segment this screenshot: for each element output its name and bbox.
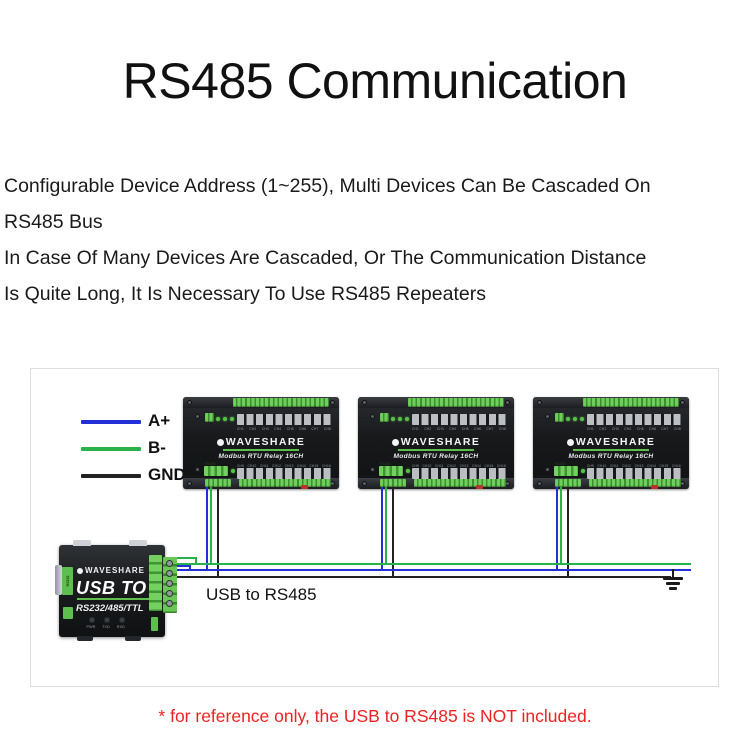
usb-to-rs485-converter[interactable]: RS232 WAVESHARE USB TO RS232/485/TTL PWR… [59,545,165,637]
status-led [223,417,227,421]
converter-subtitle: RS232/485/TTL [76,603,144,614]
channel-label: CH7 [312,426,319,432]
wire-b-minus-drop-board2 [385,487,387,565]
waveshare-mark-icon [392,439,399,446]
channel-label: CH7 [662,426,669,432]
status-led [573,417,577,421]
mount-hole [680,400,685,405]
mount-hole [505,400,510,405]
channel-label: CH2 [424,426,431,432]
channel-label: CH4 [274,426,281,432]
rs485-screw-terminal[interactable] [163,557,177,613]
rs232-port[interactable]: RS232 [62,567,73,595]
wiring-diagram: A+ B- GND CH1 CH2 CH3 CH4 [30,368,719,687]
channel-label: CH1 [587,426,594,432]
earth-ground-icon [659,569,687,591]
relay-row-bottom [237,468,331,479]
mount-hole [362,400,367,405]
wire-b-minus-drop-board1 [210,487,212,565]
channel-label: CH7 [487,426,494,432]
channel-labels-top: CH1 CH2 CH3 CH4 CH5 CH6 CH7 CH8 [412,426,506,432]
mode-switch[interactable] [151,617,158,631]
mount-tab [73,540,91,546]
board-brand-text: WAVESHARE [226,436,306,448]
input-terminal-strip-bottom[interactable] [239,479,331,487]
rs485-connector-label: RS485 [555,462,565,466]
power-terminal[interactable] [380,413,389,422]
terminal-screw[interactable] [166,590,173,597]
converter-caption: USB to RS485 [206,584,317,606]
rs485-connector-label: RS485 [380,462,390,466]
ground-bar [669,587,677,590]
relay-row-bottom [412,468,506,479]
channel-label: CH4 [449,426,456,432]
terminal-screw[interactable] [166,570,173,577]
terminal-screw[interactable] [166,580,173,587]
channel-label: CH4 [624,426,631,432]
logo-underline [223,449,299,451]
channel-label: CH2 [249,426,256,432]
relay-row-top [412,414,506,425]
mount-hole [195,467,200,472]
input-terminal-left[interactable] [380,479,406,487]
output-terminal-strip-top[interactable] [408,398,504,407]
channel-label: CH8 [324,426,331,432]
mount-tab [129,540,147,546]
channel-label: CH3 [437,426,444,432]
status-led [231,469,235,473]
legend-swatch-green [81,447,141,451]
converter-wire-b-minus-stub [177,557,197,559]
mount-hole [195,414,200,419]
board-brand-logo: WAVESHARE [358,437,514,448]
mount-hole [330,400,335,405]
output-terminal-strip-top[interactable] [233,398,329,407]
rs485-connector[interactable] [204,466,228,476]
description-line-4: Is Quite Long, It Is Necessary To Use RS… [4,276,748,312]
board-brand-logo: WAVESHARE [183,437,339,448]
rxd-led-label: RXD [116,625,126,630]
relay-board-1[interactable]: CH1 CH2 CH3 CH4 CH5 CH6 CH7 CH8 WAVESHAR… [183,397,339,489]
waveshare-mark-icon [217,439,224,446]
pwr-led-label: PWR [86,625,96,630]
channel-label: CH3 [262,426,269,432]
input-terminal-strip-bottom[interactable] [414,479,506,487]
pwr-led [89,617,95,623]
terminal-screw[interactable] [166,560,173,567]
channel-label: CH6 [299,426,306,432]
channel-label: CH1 [412,426,419,432]
converter-wire-b-minus-join [195,563,203,565]
mount-hole [537,481,542,486]
converter-title: USB TO [76,578,147,598]
board-model-text: Modbus RTU Relay 16CH [358,453,514,461]
description-line-3: In Case Of Many Devices Are Cascaded, Or… [4,240,748,276]
mount-hole [370,467,375,472]
fuse-cap [301,485,308,489]
input-terminal-left[interactable] [555,479,581,487]
board-model-text: Modbus RTU Relay 16CH [533,453,689,461]
board-brand-text: WAVESHARE [401,436,481,448]
page-title: RS485 Communication [0,52,750,110]
converter-wire-gnd-stub [177,576,187,578]
converter-brand-text: WAVESHARE [85,566,145,575]
status-led [406,469,410,473]
legend-label-b-minus: B- [148,436,166,460]
board-brand-text: WAVESHARE [576,436,656,448]
waveshare-mark-icon [567,439,574,446]
relay-row-top [587,414,681,425]
bus-line-b-minus [161,563,691,565]
channel-labels-top: CH1 CH2 CH3 CH4 CH5 CH6 CH7 CH8 [587,426,681,432]
module-foot [77,636,93,641]
mount-hole [187,400,192,405]
led-labels: PWR TXD RXD [86,625,126,630]
converter-terminal-block[interactable] [149,555,162,611]
output-terminal-strip-top[interactable] [583,398,679,407]
relay-board-3[interactable]: CH1 CH2 CH3 CH4 CH5 CH6 CH7 CH8 WAVESHAR… [533,397,689,489]
legend-swatch-black [81,474,141,478]
logo-underline [398,449,474,451]
board-model-text: Modbus RTU Relay 16CH [183,453,339,461]
channel-label: CH3 [612,426,619,432]
status-led [230,417,234,421]
channel-label: CH8 [674,426,681,432]
mount-hole [545,414,550,419]
wire-a-plus-drop-board3 [556,487,558,571]
status-led [405,417,409,421]
channel-label: CH1 [237,426,244,432]
converter-wire-a-plus-riser [189,565,191,571]
db9-serial-port[interactable] [55,565,62,595]
rs485-connector[interactable] [554,466,578,476]
channel-labels-top: CH1 CH2 CH3 CH4 CH5 CH6 CH7 CH8 [237,426,331,432]
ground-bar [663,577,683,580]
description-block: Configurable Device Address (1~255), Mul… [4,168,748,312]
bus-line-gnd [161,576,671,578]
logo-underline [573,449,649,451]
fuse-cap [651,485,658,489]
converter-brand-logo: WAVESHARE [77,566,145,575]
description-line-2: RS485 Bus [4,204,748,240]
input-terminal-strip-bottom[interactable] [589,479,681,487]
wire-a-plus-drop-board1 [206,487,208,571]
status-led [566,417,570,421]
rs485-connector[interactable] [379,466,403,476]
bus-line-a-plus [161,569,691,571]
txd-led [104,617,110,623]
terminal-screw[interactable] [166,600,173,607]
description-line-1: Configurable Device Address (1~255), Mul… [4,168,748,204]
rs232-port-label: RS232 [66,576,70,587]
legend-swatch-blue [81,420,141,424]
status-led [398,417,402,421]
fuse-cap [476,485,483,489]
relay-board-2[interactable]: CH1 CH2 CH3 CH4 CH5 CH6 CH7 CH8 WAVESHAR… [358,397,514,489]
board-brand-logo: WAVESHARE [533,437,689,448]
disclaimer-note: * for reference only, the USB to RS485 i… [0,704,750,728]
status-led [216,417,220,421]
channel-label: CH6 [649,426,656,432]
mount-hole [545,467,550,472]
status-led [581,469,585,473]
status-led [391,417,395,421]
input-terminal-left[interactable] [205,479,231,487]
mount-hole [537,400,542,405]
power-terminal[interactable] [205,413,214,422]
channel-label: CH5 [287,426,294,432]
channel-label: CH5 [637,426,644,432]
wire-b-minus-drop-board3 [560,487,562,565]
rxd-led [119,617,125,623]
status-led [580,417,584,421]
rs485-connector-label: RS485 [205,462,215,466]
waveshare-mark-icon [77,568,83,574]
led-indicator-group [89,617,125,623]
direction-arrow-icon [77,598,151,600]
txd-led-label: TXD [101,625,111,630]
mount-hole [187,481,192,486]
channel-label: CH8 [499,426,506,432]
channel-label: CH5 [462,426,469,432]
mount-hole [370,414,375,419]
legend-label-a-plus: A+ [148,409,170,433]
mount-hole [362,481,367,486]
module-foot [125,636,141,641]
ground-bar [666,582,680,585]
relay-row-top [237,414,331,425]
legend-label-gnd: GND [148,463,186,487]
channel-label: CH2 [599,426,606,432]
power-terminal[interactable] [555,413,564,422]
wire-a-plus-drop-board2 [381,487,383,571]
channel-label: CH6 [474,426,481,432]
relay-row-bottom [587,468,681,479]
module-badge [63,607,73,619]
